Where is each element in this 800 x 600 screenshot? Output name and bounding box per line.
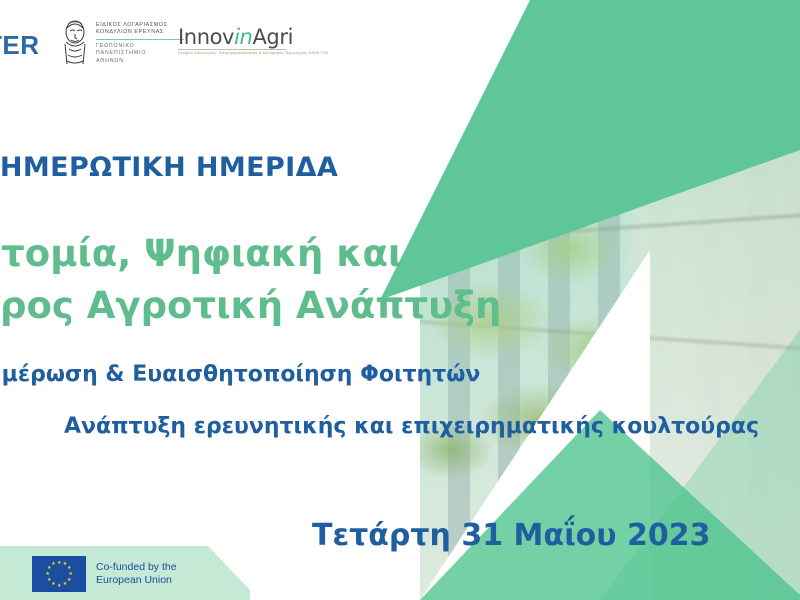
innovinagri-part-1: Innov	[178, 25, 234, 49]
eu-star-icon: ★	[69, 572, 73, 576]
innovinagri-part-3: Agri	[252, 25, 293, 49]
eu-star-icon: ★	[57, 561, 61, 565]
eu-star-icon: ★	[67, 566, 71, 570]
elke-divider	[96, 39, 184, 40]
eu-star-icon: ★	[47, 578, 51, 582]
eu-star-icon: ★	[63, 582, 67, 586]
eu-star-icon: ★	[46, 572, 50, 576]
partner-logo-ter: TER	[0, 30, 40, 61]
innovinagri-part-2: in	[234, 25, 252, 49]
eu-funding-line-2: European Union	[96, 574, 177, 587]
elke-aua-logo-text: ΕΙΔΙΚΟΣ ΛΟΓΑΡΙΑΣΜΟΣ ΚΟΝΔΥΛΙΩΝ ΕΡΕΥΝΑΣ ΓΕ…	[96, 22, 188, 65]
elke-aua-logo: ΕΙΔΙΚΟΣ ΛΟΓΑΡΙΑΣΜΟΣ ΚΟΝΔΥΛΙΩΝ ΕΡΕΥΝΑΣ ΓΕ…	[60, 18, 188, 68]
eu-funding-label: Co-funded by the European Union	[96, 561, 177, 587]
elke-line-5: ΑΘΗΝΩΝ	[96, 58, 188, 66]
event-kicker: ΕΝΗΜΕΡΩΤΙΚΗ ΗΜΕΡΙΔΑ	[0, 152, 338, 183]
innovinagri-subtitle: Γραφείο Καινοτομίας, Επιχειρηματικότητας…	[178, 51, 290, 56]
innovinagri-wordmark: InnovinAgri	[178, 26, 290, 48]
eu-funding-badge: ★★★★★★★★★★★★ Co-funded by the European U…	[32, 556, 177, 592]
innovinagri-logo: InnovinAgri Γραφείο Καινοτομίας, Επιχειρ…	[178, 26, 290, 56]
eu-star-icon: ★	[51, 562, 55, 566]
eu-funding-line-1: Co-funded by the	[96, 561, 177, 574]
eu-star-icon: ★	[67, 578, 71, 582]
event-headline: Καινοτομία, Ψηφιακή και Αειφόρος Αγροτικ…	[0, 228, 542, 332]
event-subtitle-2: Ανάπτυξη ερευνητικής και επιχειρηματικής…	[64, 414, 759, 439]
eu-flag-icon: ★★★★★★★★★★★★	[32, 556, 86, 592]
event-poster: TER	[0, 0, 800, 600]
elke-line-1: ΕΙΔΙΚΟΣ ΛΟΓΑΡΙΑΣΜΟΣ	[96, 22, 188, 29]
event-date: Τετάρτη 31 Μαΐου 2023	[312, 518, 711, 553]
elke-line-2: ΚΟΝΔΥΛΙΩΝ ΕΡΕΥΝΑΣ	[96, 29, 188, 36]
innovinagri-divider	[178, 49, 286, 50]
logo-bar: TER	[0, 10, 300, 68]
elke-line-4: ΠΑΝΕΠΙΣΤΗΜΙΟ	[96, 50, 188, 58]
goddess-head-icon	[60, 18, 90, 66]
elke-line-3: ΓΕΩΠΟΝΙΚΟ	[96, 43, 188, 51]
event-subtitle-1: Ενημέρωση & Ευαισθητοποίηση Φοιτητών	[0, 362, 480, 387]
eu-star-icon: ★	[57, 584, 61, 588]
